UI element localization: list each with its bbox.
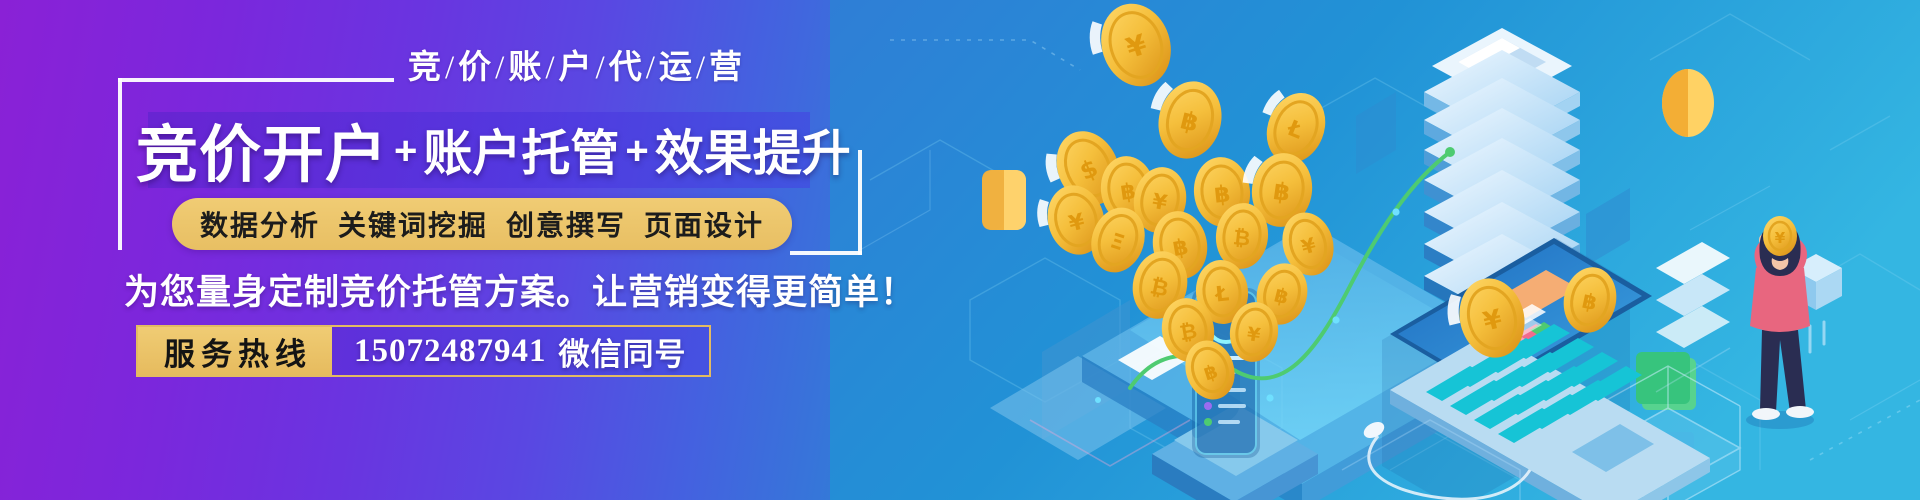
bracket-left-rule (118, 78, 122, 250)
banner-subcopy: 为您量身定制竞价托管方案。让营销变得更简单！ (124, 264, 916, 315)
headline-plus-1: + (388, 129, 423, 174)
tagline-char-6: 营 (709, 50, 743, 86)
svg-text:₿: ₿ (1232, 225, 1252, 251)
tagline-sep: / (542, 50, 558, 86)
services-pill[interactable]: 数据分析关键词挖掘创意撰写页面设计 (172, 198, 792, 250)
tagline-char-3: 户 (559, 50, 593, 86)
hotline-number-group[interactable]: 15072487941 微信同号 (332, 327, 709, 375)
hotline-wechat-note: 微信同号 (547, 329, 687, 374)
svg-text:¥: ¥ (1775, 229, 1786, 247)
tagline-char-2: 账 (508, 50, 542, 86)
banner-headline: 竞价开户 + 账户托管 + 效果提升 (136, 104, 876, 194)
tagline-sep: / (643, 50, 659, 86)
service-item-2: 创意撰写 (506, 210, 626, 241)
service-item-1: 关键词挖掘 (338, 210, 488, 241)
illustration-scene: ¥ ฿ $ Ł (830, 0, 1920, 500)
svg-text:฿: ฿ (1213, 181, 1232, 209)
tagline-char-4: 代 (609, 50, 643, 86)
bracket-bottom-rule (790, 251, 862, 255)
svg-text:Ł: Ł (1213, 281, 1230, 306)
services-list: 数据分析关键词挖掘创意撰写页面设计 (200, 204, 764, 244)
headline-part-2: 账户托管 (423, 114, 619, 185)
headline-part-1: 竞价开户 (136, 104, 388, 194)
hotline-bar[interactable]: 服务热线 15072487941 微信同号 (136, 325, 711, 377)
hotline-phone-number[interactable]: 15072487941 (354, 333, 547, 370)
headline-plus-2: + (619, 129, 654, 174)
hotline-label: 服务热线 (138, 327, 332, 375)
banner-content: 竞/价/账/户/代/运/营 竞价开户 + 账户托管 + 效果提升 数据分析关键词… (0, 0, 920, 500)
banner-tagline: 竞/价/账/户/代/运/营 (408, 48, 743, 88)
headline-part-3: 效果提升 (655, 114, 851, 185)
tagline-char-1: 价 (458, 50, 492, 86)
tagline-sep: / (693, 50, 709, 86)
tagline-char-0: 竞 (408, 50, 442, 86)
tagline-sep: / (593, 50, 609, 86)
tagline-sep: / (492, 50, 508, 86)
promo-banner: ¥ ฿ $ Ł (0, 0, 1920, 500)
tagline-char-5: 运 (659, 50, 693, 86)
tagline-sep: / (442, 50, 458, 86)
bracket-top-rule (118, 78, 394, 82)
service-item-3: 页面设计 (644, 210, 764, 241)
service-item-0: 数据分析 (200, 210, 320, 241)
